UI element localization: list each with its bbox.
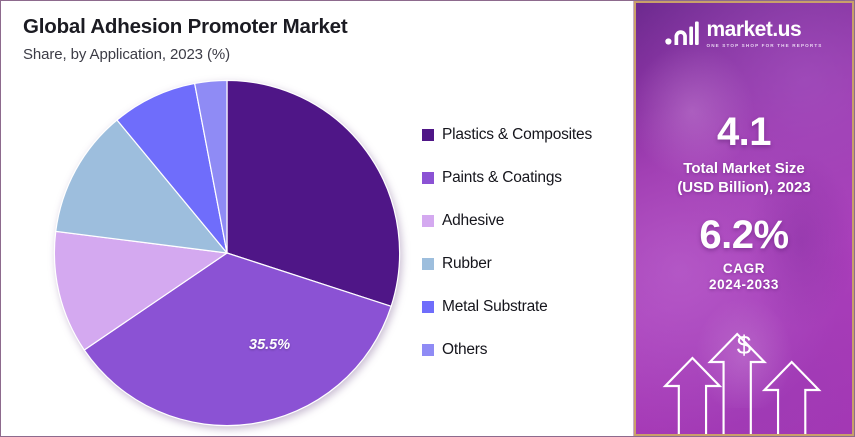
legend-item[interactable]: Metal Substrate [422,285,592,328]
cagr-caption-line2: 2024-2033 [709,277,779,294]
logo-wordmark: market.us [706,19,822,40]
stats-panel: market.us ONE STOP SHOP FOR THE REPORTS … [634,1,854,436]
market-size-value: 4.1 [717,112,771,152]
market-size-caption: Total Market Size (USD Billion), 2023 [677,160,810,198]
cagr-value: 6.2% [699,215,788,255]
legend-item[interactable]: Adhesive [422,199,592,242]
market-size-caption-line1: Total Market Size [677,160,810,179]
dollar-sign-icon: $ [636,332,852,358]
legend-item[interactable]: Plastics & Composites [422,113,592,156]
market-us-logo-icon [665,20,699,47]
legend-item-label: Rubber [442,255,492,273]
chart-header: Global Adhesion Promoter Market Share, b… [1,1,633,63]
logo-text: market.us ONE STOP SHOP FOR THE REPORTS [706,19,822,48]
pie-chart: 35.5% [53,79,401,427]
legend-swatch-icon [422,344,434,356]
pie-svg [53,79,401,427]
chart-subtitle: Share, by Application, 2023 (%) [23,46,633,63]
legend-swatch-icon [422,172,434,184]
legend-item[interactable]: Others [422,328,592,371]
legend-item-label: Plastics & Composites [442,126,592,144]
legend-swatch-icon [422,129,434,141]
slice-data-label: 35.5% [249,337,290,353]
legend-item-label: Paints & Coatings [442,169,562,187]
legend-item-label: Adhesive [442,212,504,230]
pie-slices-container [53,79,401,427]
cagr-caption-line1: CAGR [709,261,779,278]
chart-legend: Plastics & CompositesPaints & CoatingsAd… [422,113,592,371]
infographic-frame: Global Adhesion Promoter Market Share, b… [0,0,855,437]
page-title: Global Adhesion Promoter Market [23,15,633,39]
legend-swatch-icon [422,301,434,313]
brand-logo[interactable]: market.us ONE STOP SHOP FOR THE REPORTS [665,19,822,48]
logo-tagline: ONE STOP SHOP FOR THE REPORTS [706,43,822,48]
legend-item[interactable]: Paints & Coatings [422,156,592,199]
legend-swatch-icon [422,215,434,227]
legend-item[interactable]: Rubber [422,242,592,285]
chart-panel: Global Adhesion Promoter Market Share, b… [1,1,634,436]
legend-item-label: Others [442,341,487,359]
cagr-caption: CAGR 2024-2033 [709,261,779,295]
legend-item-label: Metal Substrate [442,298,548,316]
legend-swatch-icon [422,258,434,270]
market-size-caption-line2: (USD Billion), 2023 [677,179,810,198]
